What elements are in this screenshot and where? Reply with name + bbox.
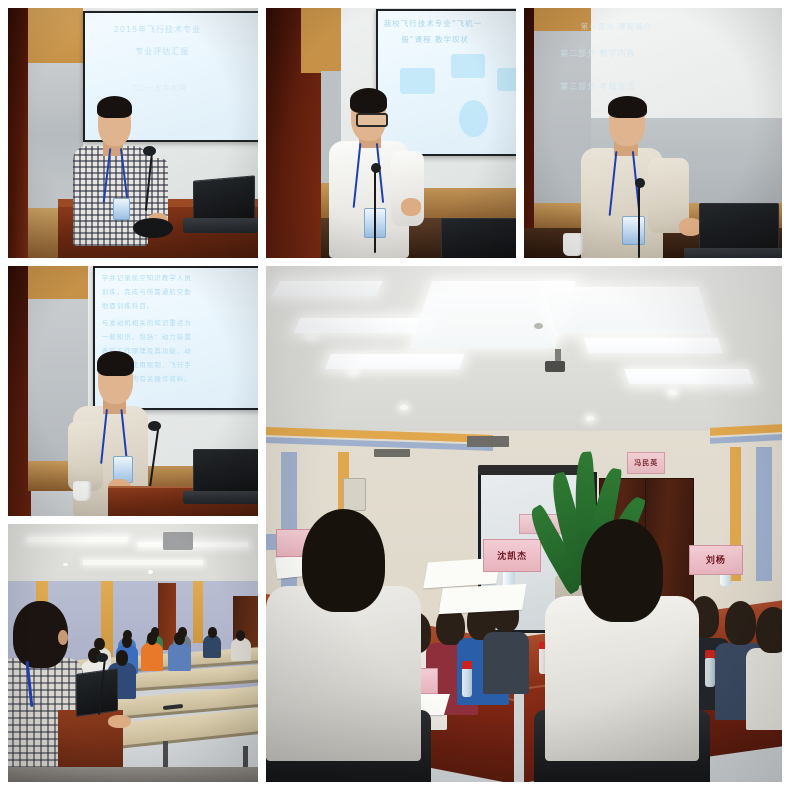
presenter-hair xyxy=(97,96,132,119)
air-vent-icon-2 xyxy=(374,449,410,457)
presenter-glasses xyxy=(356,113,388,127)
ceiling-light-panel-2 xyxy=(294,318,435,333)
audience-person-r3-4-head xyxy=(208,627,217,637)
slide-shape-box-1 xyxy=(451,54,486,78)
ceiling-light-2 xyxy=(137,542,248,547)
laptop-screen xyxy=(193,449,258,496)
ceiling-light-3 xyxy=(83,560,203,565)
photo-6[interactable] xyxy=(8,524,258,782)
photo-1[interactable]: 2015年飞行技术专业 专业评估汇报 二○一五年九月 xyxy=(8,8,258,258)
slide-shape-box-3 xyxy=(497,68,516,91)
projection-screen: 我校飞行技术专业“飞机一 般”课程 教学现状 xyxy=(376,9,516,156)
slide-line-1: 第二部分 教学内容 xyxy=(560,48,636,59)
ceiling-light-1 xyxy=(27,537,129,542)
presenter-hair xyxy=(350,88,388,113)
name-placard-shen: 沈凯杰 xyxy=(483,539,542,572)
audience-person-r2-3 xyxy=(141,643,164,671)
water-bottle-5 xyxy=(705,658,715,687)
presenter-hair xyxy=(97,351,135,376)
slide-line-1: 2015年飞行技术专业 xyxy=(114,24,201,35)
slide-line-0: 学并记录航空知识教学人员 xyxy=(102,272,192,282)
water-bottle-2 xyxy=(462,668,472,696)
presenter-badge xyxy=(113,198,130,220)
slide-line-2: 地面训练科目。 xyxy=(102,300,155,310)
photo-collage: 2015年飞行技术专业 专业评估汇报 二○一五年九月 xyxy=(0,0,790,790)
foreground-person-left-body xyxy=(266,586,421,761)
name-placard-liu: 刘杨 xyxy=(689,545,743,575)
photo-1-scene: 2015年飞行技术专业 专业评估汇报 二○一五年九月 xyxy=(8,8,258,258)
attendee-12-head xyxy=(756,607,782,653)
slide-line-2: 第三部分 考核方式 xyxy=(560,81,636,92)
slide-line-0: 第一部分 课程简介 xyxy=(581,21,652,32)
photo-5[interactable]: 沈凯杰 张 刘杨 冯民英 xyxy=(266,266,782,782)
audience-person-r3-4 xyxy=(203,635,221,658)
wall-pillar-3 xyxy=(193,581,203,643)
attendee-11-head xyxy=(725,601,756,645)
water-bottle-5-cap xyxy=(705,650,715,658)
podium-microphone-head xyxy=(96,653,109,662)
attendee-7-body xyxy=(483,632,529,694)
teacup xyxy=(73,481,91,501)
presenter-badge xyxy=(622,216,645,246)
tan-wall-band xyxy=(301,8,341,73)
microphone-stem xyxy=(638,183,640,258)
audience-person-r1-2-head xyxy=(116,650,129,665)
ceiling-light-panel-6 xyxy=(583,338,722,353)
ceiling-light-panel-7 xyxy=(624,369,753,384)
downlight-5 xyxy=(586,416,594,421)
foreground-person-left-head xyxy=(302,509,385,612)
photo-4-scene: 学并记录航空知识教学人员 训练，完成与所需通航空勤 地面训练科目。 与发动机相关… xyxy=(8,266,258,516)
downlight-1 xyxy=(307,333,315,338)
projector-screen-casing xyxy=(478,465,592,475)
audience-person-r3-5-head xyxy=(236,630,245,641)
audience-person-r2-4-head xyxy=(174,632,185,645)
audience-person-r3-5 xyxy=(231,638,251,661)
wall-vertical-stripe-2 xyxy=(756,447,771,581)
paper-stack-2 xyxy=(439,584,526,614)
slide-line-3: 与发动机相关的知识重点为 xyxy=(102,317,192,327)
teacup xyxy=(563,233,584,256)
laptop-screen xyxy=(441,218,516,258)
ceiling-light-panel-3 xyxy=(325,354,465,369)
microphone-head xyxy=(371,163,381,173)
audience-person-r2-4 xyxy=(168,643,191,671)
slide-line-1: 训练，完成与所需通航空勤 xyxy=(102,286,192,296)
speaker-hand xyxy=(108,715,131,728)
presenter-hair xyxy=(608,96,647,119)
smoke-detector-icon xyxy=(534,323,542,329)
name-placard-feng: 冯民英 xyxy=(627,452,665,475)
photo-3-scene: 第一部分 课程简介 第二部分 教学内容 第三部分 考核方式 xyxy=(524,8,782,258)
microphone-head xyxy=(148,421,161,431)
microphone-base xyxy=(133,218,173,238)
microphone-head xyxy=(143,146,156,156)
audience-person-r2-2-head xyxy=(122,635,133,648)
ceiling xyxy=(8,524,258,586)
downlight-4 xyxy=(668,390,676,395)
slide-line-4: 一般知识、包括：动力装置 xyxy=(102,331,192,341)
photo-2[interactable]: 我校飞行技术专业“飞机一 般”课程 教学现状 xyxy=(266,8,516,258)
floor xyxy=(8,767,258,782)
slide-line-2: 般”课程 教学现状 xyxy=(401,34,469,45)
water-bottle-2-cap xyxy=(462,661,472,669)
slide-line-2: 专业评估汇报 xyxy=(135,46,189,57)
microphone-stem xyxy=(374,168,376,253)
laptop-base xyxy=(183,491,258,504)
slide-line-1: 我校飞行技术专业“飞机一 xyxy=(384,18,482,29)
wood-wall xyxy=(8,8,28,258)
photo-4[interactable]: 学并记录航空知识教学人员 训练，完成与所需通航空勤 地面训练科目。 与发动机相关… xyxy=(8,266,258,516)
ceiling-light-panel-1 xyxy=(272,281,383,296)
presenter-hand xyxy=(401,198,421,216)
photo-6-scene xyxy=(8,524,258,782)
speaker-ear xyxy=(58,630,68,645)
ceiling-light-panel-5 xyxy=(543,287,711,333)
photo-3[interactable]: 第一部分 课程简介 第二部分 教学内容 第三部分 考核方式 xyxy=(524,8,782,258)
attendee-12-body xyxy=(746,648,782,731)
slide-line-3: 二○一五年九月 xyxy=(132,83,187,93)
podium-laptop xyxy=(76,668,118,717)
projector-mount-icon xyxy=(163,532,193,550)
air-vent-icon xyxy=(467,436,508,446)
foreground-person-right-head xyxy=(581,519,664,622)
laptop-base xyxy=(684,248,782,258)
projector-body xyxy=(545,361,566,371)
slide-shape-circle xyxy=(459,100,488,137)
photo-2-scene: 我校飞行技术专业“飞机一 般”课程 教学现状 xyxy=(266,8,516,258)
wall-speaker-icon xyxy=(343,478,366,511)
laptop-base xyxy=(183,218,258,233)
slide-shape-box-2 xyxy=(400,68,435,94)
photo-5-scene: 沈凯杰 张 刘杨 冯民英 xyxy=(266,266,782,782)
